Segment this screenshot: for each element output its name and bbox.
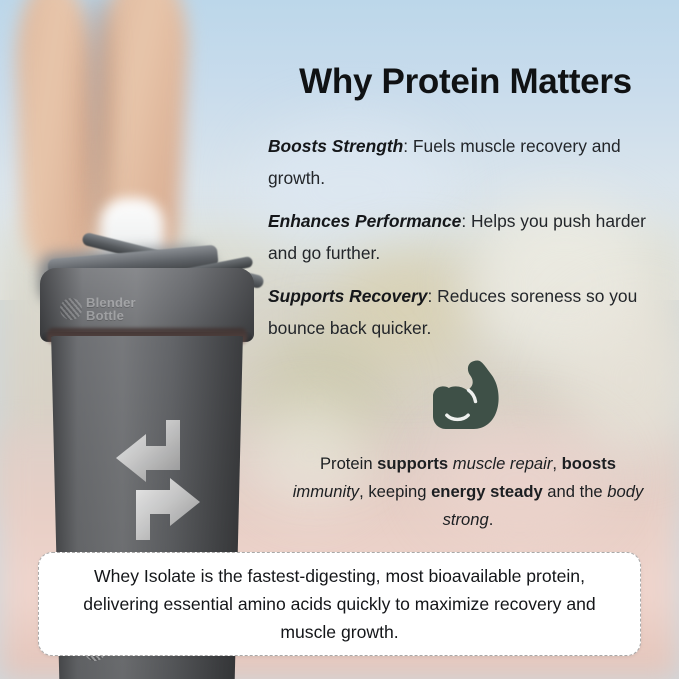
benefit-term: Boosts Strength — [268, 136, 403, 156]
callout-box: Whey Isolate is the fastest-digesting, m… — [38, 552, 641, 656]
text-part: Protein — [320, 454, 377, 473]
text-part: . — [489, 510, 494, 529]
text-part: and the — [543, 482, 608, 501]
text-italic: muscle repair — [448, 454, 552, 473]
benefit-item: Boosts Strength: Fuels muscle recovery a… — [268, 130, 673, 194]
benefit-item: Supports Recovery: Reduces soreness so y… — [268, 280, 673, 344]
text-bold: energy steady — [431, 482, 543, 501]
text-italic: immunity — [293, 482, 359, 501]
blenderbottle-arrows-logo — [106, 416, 210, 544]
protein-summary-text: Protein supports muscle repair, boosts i… — [288, 450, 648, 534]
blenderbottle-disc-icon — [60, 298, 82, 320]
text-bold: boosts — [562, 454, 616, 473]
infographic-canvas: Blender Bottle Bottle Why Protein Mat — [0, 0, 679, 679]
text-bold: supports — [377, 454, 448, 473]
page-title: Why Protein Matters — [258, 62, 673, 102]
text-part: , — [552, 454, 561, 473]
callout-text: Whey Isolate is the fastest-digesting, m… — [39, 562, 640, 646]
benefits-list: Boosts Strength: Fuels muscle recovery a… — [268, 130, 673, 355]
text-part: , keeping — [359, 482, 431, 501]
benefit-term: Enhances Performance — [268, 211, 461, 231]
benefit-item: Enhances Performance: Helps you push har… — [268, 205, 673, 269]
brand-name-line2: Bottle — [86, 309, 198, 322]
benefit-term: Supports Recovery — [268, 286, 427, 306]
brand-wordmark-emboss: Blender Bottle — [86, 296, 198, 330]
flexed-bicep-icon — [430, 358, 508, 432]
